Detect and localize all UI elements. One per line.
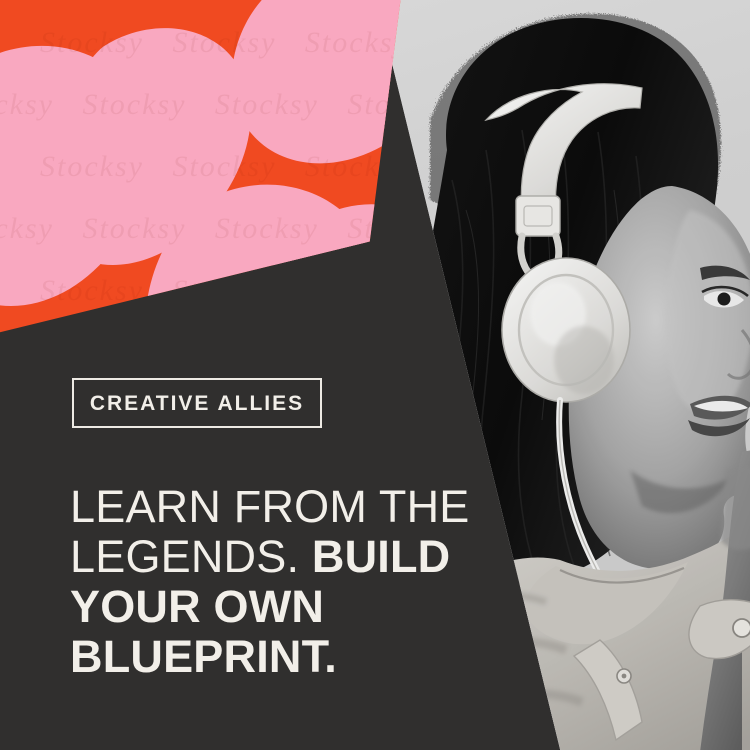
headline-line-1: LEARN FROM THE bbox=[70, 481, 470, 532]
headline-line-2-light: LEGENDS. bbox=[70, 531, 299, 582]
headline: LEARN FROM THE LEGENDS. BUILD YOUR OWN B… bbox=[70, 482, 500, 682]
poster-canvas: Stocksy Stocksy Stocksy Stocksy Stocksy … bbox=[0, 0, 750, 750]
headline-line-3: YOUR OWN bbox=[70, 581, 324, 632]
brand-badge-label: CREATIVE ALLIES bbox=[90, 393, 304, 414]
headline-line-4: BLUEPRINT. bbox=[70, 631, 337, 682]
headline-line-2-bold: BUILD bbox=[299, 531, 450, 582]
brand-badge[interactable]: CREATIVE ALLIES bbox=[72, 378, 322, 428]
